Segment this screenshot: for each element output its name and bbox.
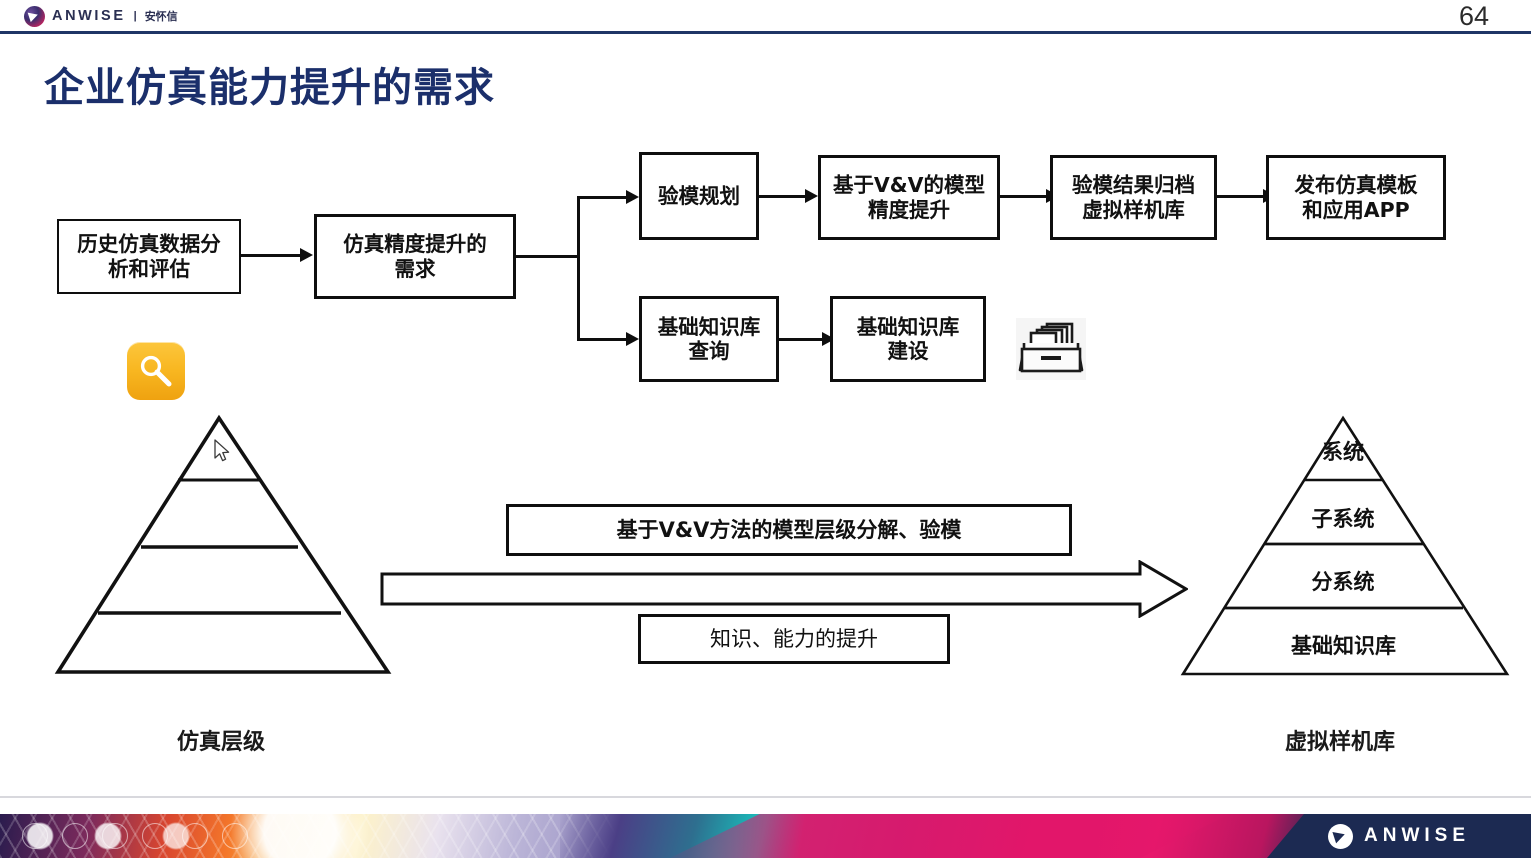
footer-decor-search-icon xyxy=(182,823,208,849)
flow-box-precision-need[interactable]: 仿真精度提升的 需求 xyxy=(314,214,516,299)
connector-archive-to-publish xyxy=(1217,195,1265,198)
connector-plan-to-vv xyxy=(759,195,807,198)
pyramid-left-caption: 仿真层级 xyxy=(177,724,265,756)
banner-knowledge-capability[interactable]: 知识、能力的提升 xyxy=(638,614,950,664)
banner-vv-decomposition[interactable]: 基于V&V方法的模型层级分解、验模 xyxy=(506,504,1072,556)
file-archive-icon xyxy=(1016,318,1086,385)
page-title: 企业仿真能力提升的需求 xyxy=(44,55,495,113)
flow-box-publish-template[interactable]: 发布仿真模板 和应用APP xyxy=(1266,155,1446,240)
pyramid-right-level-2: 子系统 xyxy=(1283,503,1403,533)
flow-box-historical-data[interactable]: 历史仿真数据分 析和评估 xyxy=(57,219,241,294)
flow-box-kb-build[interactable]: 基础知识库 建设 xyxy=(830,296,986,382)
slide-header: ANWISE | 安怀信 64 xyxy=(0,0,1531,33)
arrowhead-branch-top xyxy=(626,190,639,204)
arrowhead-hist-to-need xyxy=(300,248,313,262)
footer-decor-left xyxy=(0,814,640,858)
brand-name: ANWISE xyxy=(52,8,126,24)
connector-branch-top xyxy=(577,196,629,199)
pyramid-right-level-1: 系统 xyxy=(1283,436,1403,466)
footer-decor-icon-2 xyxy=(62,823,88,849)
footer-decor-icon-6 xyxy=(222,823,248,849)
brand-lockup: ANWISE | 安怀信 xyxy=(24,3,178,29)
flow-box-vv-precision[interactable]: 基于V&V的模型 精度提升 xyxy=(818,155,1000,240)
connector-kbquery-to-kbbuild xyxy=(779,338,824,341)
footer-brand-name: ANWISE xyxy=(1364,825,1470,847)
footer-brand-block: ANWISE xyxy=(1267,814,1531,858)
footer-divider xyxy=(0,796,1531,798)
slide-canvas: ANWISE | 安怀信 64 企业仿真能力提升的需求 历史仿真数据分 析和评估… xyxy=(0,0,1531,858)
flow-box-validation-plan[interactable]: 验模规划 xyxy=(639,152,759,240)
footer-decor-icon-group xyxy=(0,814,560,858)
search-tile-icon[interactable] xyxy=(127,342,185,400)
anwise-swoosh-logo-icon xyxy=(24,6,45,27)
slide-footer: ANWISE xyxy=(0,814,1531,858)
footer-decor-icon-1 xyxy=(22,823,48,849)
header-divider xyxy=(0,31,1531,34)
arrowhead-plan-to-vv xyxy=(805,189,818,203)
flow-box-kb-query[interactable]: 基础知识库 查询 xyxy=(639,296,779,382)
connector-branch-bottom xyxy=(577,338,629,341)
page-number: 64 xyxy=(1459,1,1489,32)
anwise-swoosh-logo-icon-footer xyxy=(1328,824,1353,849)
arrowhead-branch-bottom xyxy=(626,332,639,346)
flow-box-archive-result[interactable]: 验模结果归档 虚拟样机库 xyxy=(1050,155,1217,240)
connector-hist-to-need xyxy=(241,254,301,257)
connector-branch-trunk xyxy=(516,255,580,258)
mouse-pointer-icon xyxy=(214,439,232,470)
footer-decor-icon-4 xyxy=(142,823,168,849)
brand-name-cn: 安怀信 xyxy=(145,8,178,24)
connector-branch-splitter xyxy=(577,197,580,341)
pyramid-right-level-3: 分系统 xyxy=(1283,566,1403,596)
brand-divider: | xyxy=(134,10,137,22)
pyramid-right-level-4: 基础知识库 xyxy=(1261,630,1426,660)
footer-decor-icon-3 xyxy=(102,823,128,849)
footer-decor-middle xyxy=(560,814,1320,858)
pyramid-right-caption: 虚拟样机库 xyxy=(1285,724,1395,756)
connector-vv-to-archive xyxy=(1000,195,1048,198)
